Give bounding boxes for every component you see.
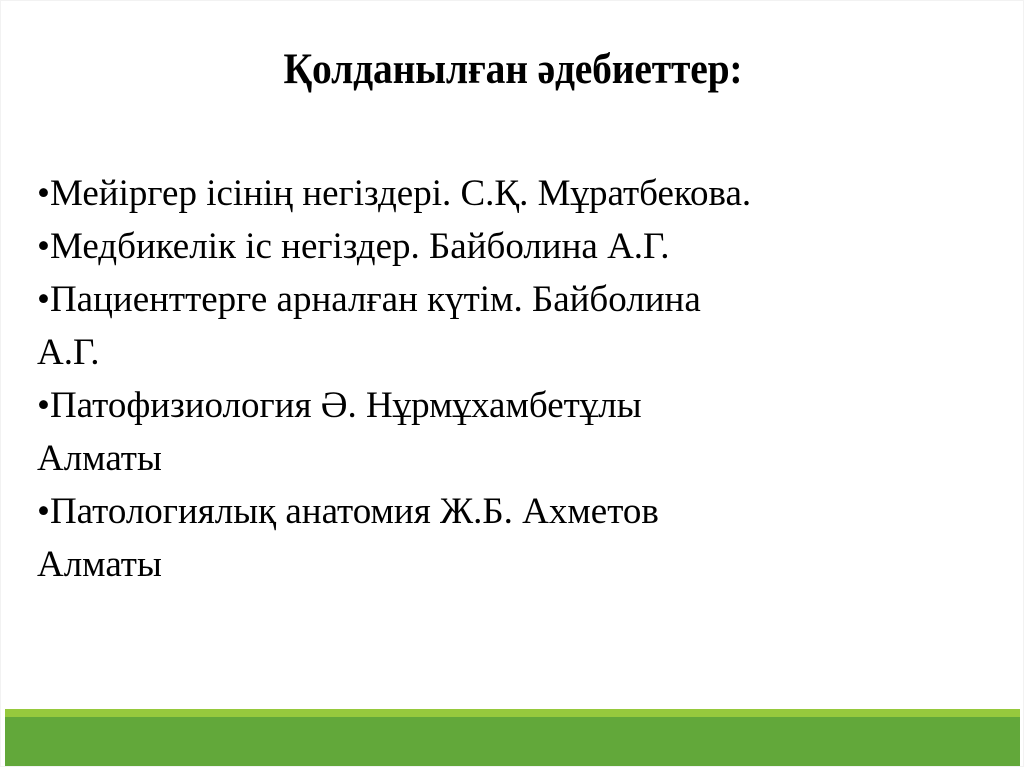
list-item: •Патофизиология Ә. Нұрмұхамбетұлы: [37, 379, 949, 432]
footer-accent-bar: [5, 709, 1020, 767]
list-item: •Медбикелік іс негіздер. Байболина А.Г.: [37, 220, 949, 273]
footer-accent-stripe-dark: [5, 717, 1020, 767]
reference-list: •Мейіргер ісінің негіздері. С.Қ. Мұратбе…: [37, 167, 949, 591]
footer-accent-stripe-light: [5, 709, 1020, 717]
page-title: Қолданылған әдебиеттер:: [97, 45, 929, 95]
list-item-continuation: А.Г.: [37, 326, 949, 379]
list-item: •Пациенттерге арналған күтім. Байболина: [37, 273, 949, 326]
list-item-continuation: Алматы: [37, 538, 949, 591]
list-item: •Патологиялық анатомия Ж.Б. Ахметов: [37, 485, 949, 538]
slide-canvas: Қолданылған әдебиеттер: •Мейіргер ісінің…: [0, 0, 1024, 767]
list-item-continuation: Алматы: [37, 432, 949, 485]
list-item: •Мейіргер ісінің негіздері. С.Қ. Мұратбе…: [37, 167, 949, 220]
